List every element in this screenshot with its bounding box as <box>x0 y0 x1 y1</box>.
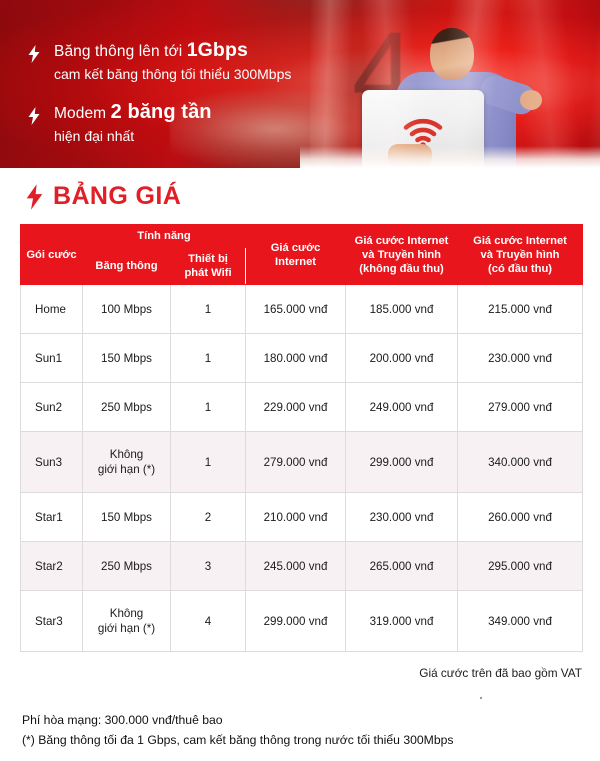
cell-bandwidth: 100 Mbps <box>83 285 171 334</box>
cell-internet-price: 279.000 vnđ <box>246 432 346 493</box>
cell-wifi-devices: 2 <box>171 493 246 542</box>
cell-tv-with-box: 230.000 vnđ <box>458 334 583 383</box>
col-header-wifi-device-line2: phát Wifi <box>174 266 242 280</box>
cell-wifi-devices: 1 <box>171 285 246 334</box>
cell-internet-price: 229.000 vnđ <box>246 383 346 432</box>
cell-tv-with-box: 260.000 vnđ <box>458 493 583 542</box>
price-table-header-row-1: Gói cước Tính năng Giá cước Internet Giá… <box>21 225 583 248</box>
cell-tv-with-box: 295.000 vnđ <box>458 542 583 591</box>
cell-tv-no-box: 299.000 vnđ <box>346 432 458 493</box>
col-header-internet-price-line2: Internet <box>249 255 342 269</box>
page-title: BẢNG GIÁ <box>53 182 181 211</box>
banner-bullet-1-line1: Băng thông lên tới 1Gbps <box>54 40 291 62</box>
price-table: Gói cước Tính năng Giá cước Internet Giá… <box>20 224 583 652</box>
promo-banner: 4 Băng <box>0 0 600 168</box>
cell-wifi-devices: 1 <box>171 383 246 432</box>
cell-bandwidth-line1: Không <box>86 606 167 621</box>
col-header-tv-no-box-line2: và Truyền hình <box>349 248 454 262</box>
col-header-internet-price: Giá cước Internet <box>246 225 346 285</box>
price-table-head: Gói cước Tính năng Giá cước Internet Giá… <box>21 225 583 285</box>
cell-bandwidth: 250 Mbps <box>83 383 171 432</box>
cell-wifi-devices: 1 <box>171 432 246 493</box>
banner-bullet-1: Băng thông lên tới 1Gbps cam kết băng th… <box>28 40 291 84</box>
price-table-body: Home100 Mbps1165.000 vnđ185.000 vnđ215.0… <box>21 285 583 652</box>
col-header-bandwidth: Băng thông <box>83 248 171 285</box>
cell-bandwidth: 150 Mbps <box>83 493 171 542</box>
cell-tv-no-box: 200.000 vnđ <box>346 334 458 383</box>
col-header-tv-with-box: Giá cước Internet và Truyền hình (có đầu… <box>458 225 583 285</box>
cell-bandwidth-line2: giới hạn (*) <box>86 621 167 636</box>
cell-tv-with-box: 279.000 vnđ <box>458 383 583 432</box>
stray-artifact-dot <box>480 697 482 699</box>
banner-bullet-2: Modem 2 băng tần hiện đại nhất <box>28 102 291 146</box>
lightning-bolt-icon <box>28 102 44 130</box>
cell-package: Sun3 <box>21 432 83 493</box>
banner-bullet-2-line1: Modem 2 băng tần <box>54 102 212 124</box>
cell-internet-price: 165.000 vnđ <box>246 285 346 334</box>
cell-bandwidth-line1: 150 Mbps <box>86 351 167 366</box>
cell-internet-price: 210.000 vnđ <box>246 493 346 542</box>
cell-wifi-devices: 4 <box>171 591 246 652</box>
cell-tv-no-box: 265.000 vnđ <box>346 542 458 591</box>
cell-bandwidth: Khônggiới hạn (*) <box>83 432 171 493</box>
cell-bandwidth: 250 Mbps <box>83 542 171 591</box>
banner-bullet-1-strong: 1Gbps <box>187 39 248 61</box>
cell-bandwidth-line1: 100 Mbps <box>86 302 167 317</box>
cell-wifi-devices: 3 <box>171 542 246 591</box>
banner-bullet-2-line2: hiện đại nhất <box>54 126 212 146</box>
cell-package: Sun2 <box>21 383 83 432</box>
cell-package: Sun1 <box>21 334 83 383</box>
lightning-bolt-icon <box>26 184 43 210</box>
col-header-tv-no-box-line3: (không đầu thu) <box>349 262 454 276</box>
cell-tv-no-box: 249.000 vnđ <box>346 383 458 432</box>
cell-tv-with-box: 215.000 vnđ <box>458 285 583 334</box>
col-header-tv-with-box-line2: và Truyền hình <box>461 248 579 262</box>
col-header-tv-no-box: Giá cước Internet và Truyền hình (không … <box>346 225 458 285</box>
section-title: BẢNG GIÁ <box>26 182 600 211</box>
banner-bullet-2-prefix: Modem <box>54 105 111 122</box>
col-header-tv-with-box-line1: Giá cước Internet <box>461 234 579 248</box>
banner-bullet-1-prefix: Băng thông lên tới <box>54 43 187 60</box>
cell-internet-price: 245.000 vnđ <box>246 542 346 591</box>
col-header-wifi-device-line1: Thiết bị <box>174 252 242 266</box>
cell-bandwidth-line1: 250 Mbps <box>86 400 167 415</box>
banner-bullet-1-line2: cam kết băng thông tối thiểu 300Mbps <box>54 64 291 84</box>
bandwidth-footnote: (*) Băng thông tối đa 1 Gbps, cam kết bă… <box>22 730 600 750</box>
banner-bullet-2-strong: 2 băng tần <box>111 101 212 123</box>
lightning-bolt-icon <box>28 40 44 68</box>
table-row: Star3Khônggiới hạn (*)4299.000 vnđ319.00… <box>21 591 583 652</box>
cell-bandwidth-line1: 150 Mbps <box>86 510 167 525</box>
cell-tv-with-box: 340.000 vnđ <box>458 432 583 493</box>
table-row: Star1150 Mbps2210.000 vnđ230.000 vnđ260.… <box>21 493 583 542</box>
cell-package: Star1 <box>21 493 83 542</box>
col-header-wifi-device: Thiết bị phát Wifi <box>171 248 246 285</box>
cell-tv-with-box: 349.000 vnđ <box>458 591 583 652</box>
cell-bandwidth: 150 Mbps <box>83 334 171 383</box>
price-table-wrapper: Gói cước Tính năng Giá cước Internet Giá… <box>20 224 582 652</box>
banner-copy: Băng thông lên tới 1Gbps cam kết băng th… <box>28 40 291 164</box>
cell-bandwidth-line2: giới hạn (*) <box>86 462 167 477</box>
table-row: Sun3Khônggiới hạn (*)1279.000 vnđ299.000… <box>21 432 583 493</box>
cell-internet-price: 299.000 vnđ <box>246 591 346 652</box>
table-row: Sun2250 Mbps1229.000 vnđ249.000 vnđ279.0… <box>21 383 583 432</box>
col-header-features-group: Tính năng <box>83 225 246 248</box>
bottom-notes: Phí hòa mạng: 300.000 vnđ/thuê bao (*) B… <box>22 710 600 750</box>
cell-package: Home <box>21 285 83 334</box>
banner-bullet-2-text: Modem 2 băng tần hiện đại nhất <box>54 102 212 146</box>
install-fee-note: Phí hòa mạng: 300.000 vnđ/thuê bao <box>22 710 600 730</box>
table-row: Home100 Mbps1165.000 vnđ185.000 vnđ215.0… <box>21 285 583 334</box>
col-header-package: Gói cước <box>21 225 83 285</box>
cell-tv-no-box: 185.000 vnđ <box>346 285 458 334</box>
cell-tv-no-box: 230.000 vnđ <box>346 493 458 542</box>
cell-package: Star2 <box>21 542 83 591</box>
table-row: Star2250 Mbps3245.000 vnđ265.000 vnđ295.… <box>21 542 583 591</box>
table-row: Sun1150 Mbps1180.000 vnđ200.000 vnđ230.0… <box>21 334 583 383</box>
banner-bullet-1-text: Băng thông lên tới 1Gbps cam kết băng th… <box>54 40 291 84</box>
cell-internet-price: 180.000 vnđ <box>246 334 346 383</box>
col-header-internet-price-line1: Giá cước <box>249 241 342 255</box>
cell-bandwidth-line1: 250 Mbps <box>86 559 167 574</box>
cell-package: Star3 <box>21 591 83 652</box>
vat-note: Giá cước trên đã bao gồm VAT <box>20 666 582 680</box>
col-header-tv-no-box-line1: Giá cước Internet <box>349 234 454 248</box>
cell-bandwidth: Khônggiới hạn (*) <box>83 591 171 652</box>
cell-tv-no-box: 319.000 vnđ <box>346 591 458 652</box>
col-header-tv-with-box-line3: (có đầu thu) <box>461 262 579 276</box>
cell-wifi-devices: 1 <box>171 334 246 383</box>
cell-bandwidth-line1: Không <box>86 447 167 462</box>
